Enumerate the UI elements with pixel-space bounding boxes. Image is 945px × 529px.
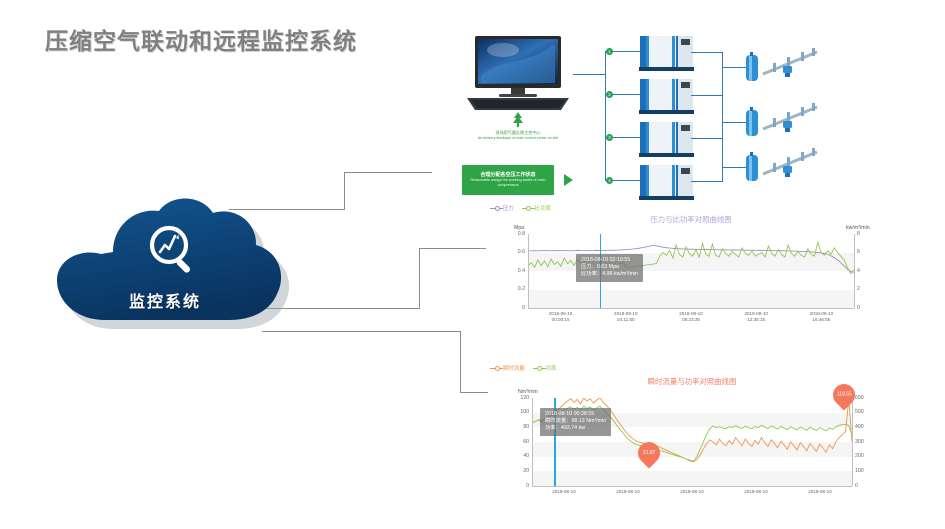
diagram-feed-2 — [722, 122, 746, 123]
y-tick-label: 0.4 — [504, 268, 525, 274]
legend-label: 功率 — [546, 366, 557, 372]
y2-tick-label: 100 — [855, 468, 875, 474]
diagram-right-bus — [722, 52, 723, 182]
x-tick-label: 2018-08-10 — [726, 489, 786, 495]
marker-label: 118.55 — [837, 392, 852, 398]
x-tick-label: 2018-08-1008:23:35 — [661, 311, 721, 323]
x-axis-line — [532, 486, 852, 487]
chart-tooltip: 2018-08-10 02:19:55压力：0.63 Mpa比功率：4.99 k… — [576, 254, 643, 282]
diagram-line-monitor-bus — [573, 74, 606, 75]
tooltip-row: 功率：493.74 kw — [545, 425, 606, 432]
y-tick-label: 120 — [508, 395, 529, 401]
chart-legend: 瞬时流量功率 — [490, 364, 564, 372]
legend-item[interactable]: 压力 — [490, 204, 514, 212]
x-tick-line: 2018-08-10 — [534, 489, 594, 495]
y-tick-label: 0.6 — [504, 249, 525, 255]
legend-marker-icon — [533, 365, 546, 371]
legend-label: 比功率 — [535, 206, 551, 212]
legend-marker-icon — [490, 205, 503, 211]
x-axis-line — [528, 308, 854, 309]
y-axis-line — [528, 234, 529, 308]
flow-power-chart: 瞬时流量功率瞬时流量与功率对照曲线图Nm³/min120100806040200… — [488, 364, 888, 514]
chart-legend: 压力比功率 — [490, 204, 559, 212]
pipe-network-icon — [761, 48, 823, 82]
y-tick-label: 0.8 — [504, 231, 525, 237]
y2-tick-label: 0 — [857, 305, 877, 311]
node-dot-2: 2 — [606, 91, 613, 98]
legend-item[interactable]: 瞬时流量 — [490, 364, 525, 372]
y-tick-label: 40 — [508, 453, 529, 459]
working-state-callout: 合理分配各空压工作状态 Reasonable assign the workin… — [462, 165, 554, 195]
connector-3-segment-c — [460, 392, 488, 393]
diagram-feed-3 — [722, 167, 746, 168]
y-tick-label: 0 — [504, 305, 525, 311]
connector-3-segment-b — [460, 331, 461, 392]
legend-label: 瞬时流量 — [503, 366, 525, 372]
y2-tick-label: 200 — [855, 453, 875, 459]
slide-root: 压缩空气联动和远程监控系统 — [0, 0, 945, 529]
y2-tick-label: 600 — [855, 395, 875, 401]
x-tick-line: 2018-08-10 — [790, 489, 850, 495]
legend-item[interactable]: 比功率 — [522, 204, 551, 212]
x-tick-label: 2018-08-10 — [598, 489, 658, 495]
y2-axis-line — [852, 398, 853, 486]
y-tick-label: 100 — [508, 409, 529, 415]
diagram-out-4 — [691, 181, 723, 182]
x-tick-label: 2018-08-1000:00:15 — [531, 311, 591, 323]
pressure-power-chart: 压力比功率压力与比功率对照曲线图Mpakw/m³/min0.80.60.40.2… — [488, 204, 888, 332]
y2-tick-label: 300 — [855, 439, 875, 445]
diagram-feed-1 — [722, 67, 746, 68]
x-tick-label: 2018-08-10 — [790, 489, 850, 495]
chart-tooltip: 2018-08-10 00:38:55瞬时流量：98.13 Nm³/min功率：… — [540, 408, 611, 436]
x-tick-label: 2018-08-10 — [534, 489, 594, 495]
marker-label: 31.87 — [643, 450, 656, 456]
y-tick-label: 0.2 — [504, 286, 525, 292]
y2-tick-label: 6 — [857, 249, 877, 255]
legend-marker-icon — [490, 365, 503, 371]
pipe-network-icon — [761, 103, 823, 137]
diagram-out-3 — [691, 138, 723, 139]
y2-tick-label: 4 — [857, 268, 877, 274]
air-compressor-icon — [638, 77, 696, 115]
diagram-left-bus — [605, 51, 606, 181]
x-tick-line: 00:00:15 — [531, 317, 591, 323]
air-tank-icon — [745, 52, 759, 84]
page-title: 压缩空气联动和远程监控系统 — [45, 22, 357, 56]
connector-1-segment-c — [344, 172, 432, 173]
tooltip-row: 比功率：4.99 kw/m³/min — [581, 271, 638, 278]
x-tick-label: 2018-08-1016:46:55 — [791, 311, 851, 323]
desktop-monitor-icon — [463, 34, 573, 112]
y2-tick-label: 500 — [855, 409, 875, 415]
chart-title: 压力与比功率对照曲线图 — [650, 214, 731, 225]
node-dot-3: 3 — [606, 134, 613, 141]
x-tick-label: 2018-08-1012:35:15 — [726, 311, 786, 323]
air-compressor-icon — [638, 163, 696, 201]
diagram-out-2 — [691, 95, 723, 96]
connector-2-segment-b — [419, 248, 420, 309]
legend-marker-icon — [522, 205, 535, 211]
y2-tick-label: 2 — [857, 286, 877, 292]
air-compressor-icon — [638, 34, 696, 72]
x-tick-line: 08:23:35 — [661, 317, 721, 323]
node-dot-4: 4 — [606, 177, 613, 184]
node-dot-1: 1 — [606, 48, 613, 55]
x-tick-line: 16:46:55 — [791, 317, 851, 323]
connector-2-segment-c — [419, 248, 486, 249]
cloud-label: 监控系统 — [35, 288, 295, 312]
x-tick-line: 2018-08-10 — [598, 489, 658, 495]
y-axis-line — [532, 398, 533, 486]
x-tick-label: 2018-08-10 — [662, 489, 722, 495]
tree-marker-icon — [511, 112, 525, 128]
y2-tick-label: 0 — [855, 483, 875, 489]
diagram-caption-en: Air delivery feedback of main control ce… — [443, 136, 593, 141]
diagram-caption-cn: 现场用气量反馈主控中心 — [443, 130, 593, 135]
x-tick-line: 04:11:55 — [596, 317, 656, 323]
callout-en: Reasonable assign the working states of … — [462, 178, 554, 187]
x-tick-label: 2018-08-1004:11:55 — [596, 311, 656, 323]
arrow-right-icon — [564, 174, 573, 186]
diagram-out-1 — [691, 52, 723, 53]
air-compressor-icon — [638, 120, 696, 158]
y-tick-label: 0 — [508, 483, 529, 489]
monitoring-cloud[interactable]: 监控系统 — [35, 196, 295, 341]
y2-tick-label: 400 — [855, 424, 875, 430]
x-tick-line: 2018-08-10 — [662, 489, 722, 495]
y-tick-label: 20 — [508, 468, 529, 474]
legend-item[interactable]: 功率 — [533, 364, 557, 372]
y-tick-label: 80 — [508, 424, 529, 430]
x-tick-line: 12:35:15 — [726, 317, 786, 323]
pipe-network-icon — [761, 148, 823, 182]
magnifier-chart-icon — [143, 222, 205, 280]
y2-tick-label: 8 — [857, 231, 877, 237]
connector-1-segment-b — [344, 172, 345, 210]
air-tank-icon — [745, 152, 759, 184]
legend-label: 压力 — [503, 206, 514, 212]
y2-axis-line — [854, 234, 855, 308]
x-tick-line: 2018-08-10 — [726, 489, 786, 495]
y-tick-label: 60 — [508, 439, 529, 445]
chart-title: 瞬时流量与功率对照曲线图 — [648, 376, 737, 387]
air-tank-icon — [745, 107, 759, 139]
compressor-system-diagram: 现场用气量反馈主控中心 Air delivery feedback of mai… — [433, 22, 933, 202]
